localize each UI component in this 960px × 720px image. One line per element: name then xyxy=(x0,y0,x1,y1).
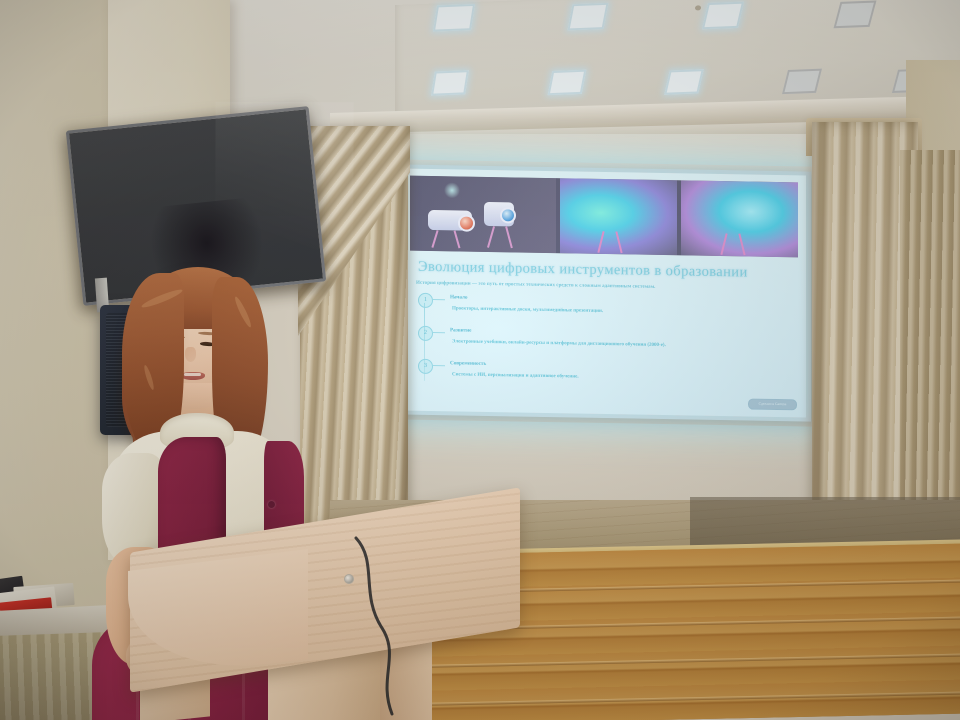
ceiling-light-panel xyxy=(431,70,469,95)
monitor-stand xyxy=(720,233,727,255)
monitor-stand xyxy=(598,231,605,253)
teeth xyxy=(184,373,201,376)
hero-cell-projectors xyxy=(410,176,556,254)
projector-leg xyxy=(487,226,495,248)
projector-leg xyxy=(505,226,513,248)
step-heading: Развитие xyxy=(450,327,471,333)
slide-subtitle: История цифровизации — это путь от прост… xyxy=(416,281,796,293)
slide-watermark-badge: Сделано в Gamma xyxy=(748,399,797,411)
step-connector xyxy=(433,332,445,333)
step-heading: Современность xyxy=(450,360,486,367)
projector-beam xyxy=(444,182,460,198)
ceiling-light-panel xyxy=(782,69,822,95)
nose xyxy=(185,347,196,362)
projection-screen: Эволюция цифровых инструментов в образов… xyxy=(402,168,806,417)
step-number: 3 xyxy=(418,359,433,374)
monitor-stand xyxy=(738,233,745,255)
step-number: 1 xyxy=(418,293,433,308)
projector-leg xyxy=(431,230,438,248)
ceiling-light-panel xyxy=(567,3,608,31)
slide-hero-image xyxy=(410,176,798,258)
hero-cell-screen-left xyxy=(560,178,677,255)
step-number: 2 xyxy=(418,326,433,341)
curtain-far-right xyxy=(900,150,960,550)
slide-step: 3 Современность Системы с ИИ, персонализ… xyxy=(418,359,796,399)
step-connector xyxy=(433,365,445,366)
projector-leg xyxy=(454,230,461,248)
ceiling-light-panel xyxy=(702,2,744,30)
step-body: Системы с ИИ, персонализация и адаптивно… xyxy=(452,372,579,379)
hero-cell-screen-right xyxy=(681,180,798,257)
podium-fastener xyxy=(344,574,354,584)
ceiling-light-panel xyxy=(433,4,475,32)
slide-steps-list: 1 Начало Проекторы, интерактивные доски,… xyxy=(418,293,796,399)
slide-title: Эволюция цифровых инструментов в образов… xyxy=(418,259,792,283)
presentation-slide: Эволюция цифровых инструментов в образов… xyxy=(402,168,806,417)
step-connector xyxy=(433,299,445,300)
presentation-photo-scene: Эволюция цифровых инструментов в образов… xyxy=(0,0,960,720)
ceiling-light-panel xyxy=(548,70,587,95)
smoke-detector-icon xyxy=(695,5,701,10)
ceiling-light-panel xyxy=(834,1,877,29)
vest-button xyxy=(268,501,275,508)
projector-lens-icon xyxy=(500,207,516,223)
step-body: Электронные учебники, онлайн-ресурсы и п… xyxy=(452,339,666,348)
step-heading: Начало xyxy=(450,294,468,300)
ceiling-light-panel xyxy=(664,69,704,95)
projector-lens-icon xyxy=(458,214,475,231)
step-body: Проекторы, интерактивные доски, мультиме… xyxy=(452,306,603,314)
monitor-stand xyxy=(616,231,623,253)
